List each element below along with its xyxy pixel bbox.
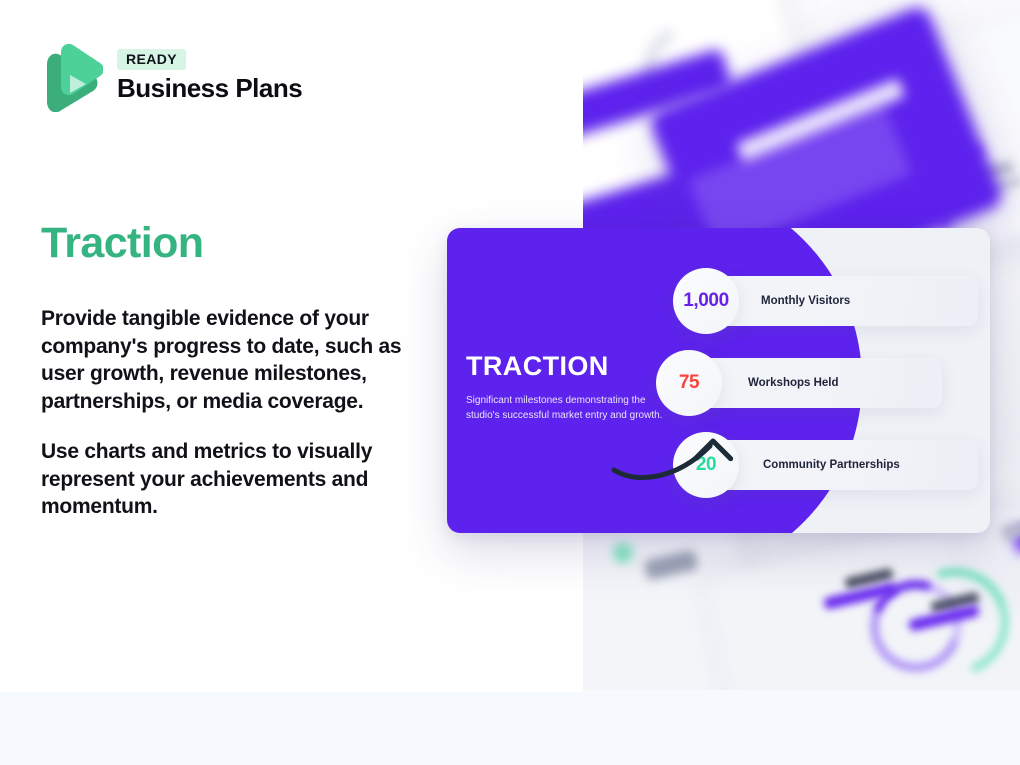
body-paragraph-2: Use charts and metrics to visually repre… <box>41 438 431 521</box>
bottom-band <box>0 690 1020 765</box>
traction-slide-card[interactable]: TRACTION Significant milestones demonstr… <box>447 228 990 533</box>
bottom-divider <box>0 690 583 692</box>
metric-circle: 75 <box>656 350 722 416</box>
metric-value: 75 <box>679 372 699 394</box>
play-triangle-logo-icon <box>41 40 103 112</box>
metric-label: Monthly Visitors <box>761 294 850 309</box>
card-title: TRACTION <box>466 351 666 382</box>
metric-label: Community Partnerships <box>763 458 900 473</box>
brand-name: Business Plans <box>117 73 302 104</box>
body-copy: Provide tangible evidence of your compan… <box>41 305 431 521</box>
curved-growth-arrow-icon <box>610 428 735 488</box>
background-mint-dot <box>613 543 633 563</box>
metric-label: Workshops Held <box>748 376 839 391</box>
metric-row[interactable]: 75 Workshops Held <box>656 350 839 416</box>
card-heading-group: TRACTION Significant milestones demonstr… <box>466 351 666 423</box>
brand-header: READY Business Plans <box>41 40 302 112</box>
brand-lockup: READY Business Plans <box>117 49 302 104</box>
body-paragraph-1: Provide tangible evidence of your compan… <box>41 305 431 416</box>
page-title: Traction <box>41 219 203 268</box>
slide-preview-canvas: READY Business Plans Traction Provide ta… <box>0 0 1020 765</box>
card-subtitle: Significant milestones demonstrating the… <box>466 393 666 423</box>
metric-value: 1,000 <box>683 290 729 312</box>
metric-row[interactable]: 1,000 Monthly Visitors <box>673 268 850 334</box>
metric-circle: 1,000 <box>673 268 739 334</box>
ready-badge: READY <box>117 49 186 70</box>
